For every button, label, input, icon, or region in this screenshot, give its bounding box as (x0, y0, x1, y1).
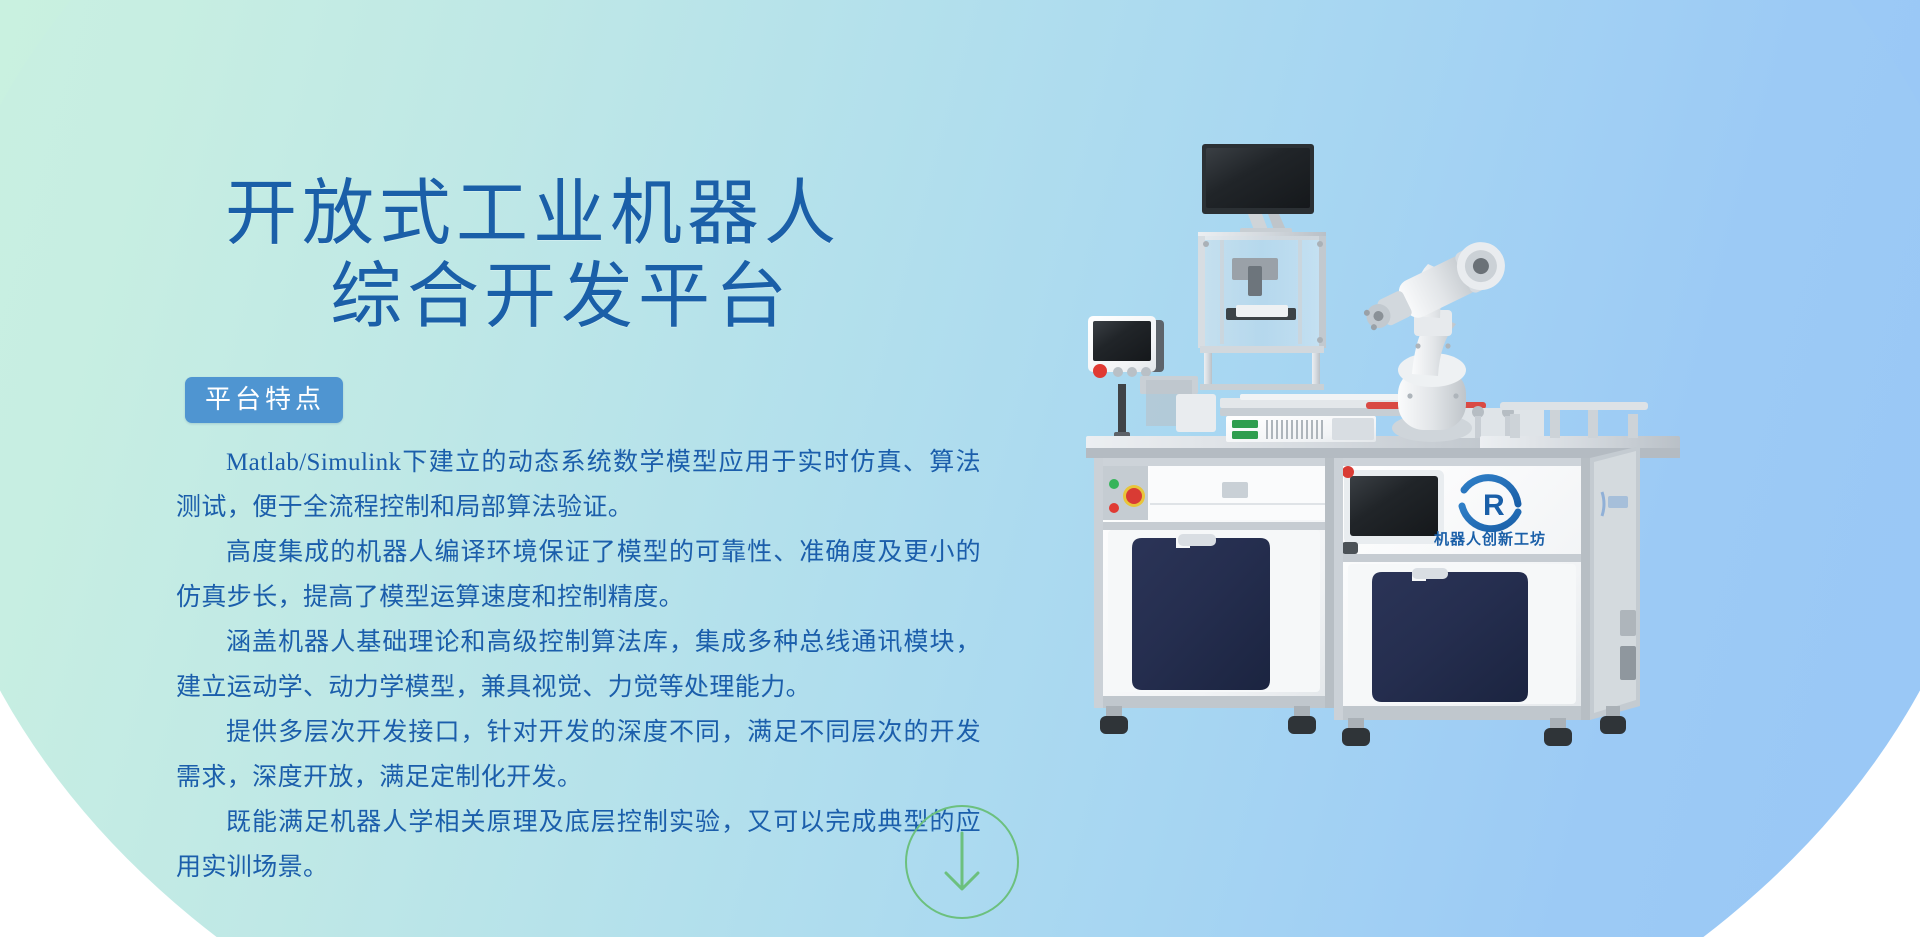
product-illustration: R 机器人创新工坊 (1080, 140, 1700, 780)
cabinet-hmi-screen[interactable] (1342, 466, 1444, 554)
feature-item: 涵盖机器人基础理论和高级控制算法库，集成多种总线通讯模块，建立运动学、动力学模型… (176, 620, 981, 710)
feature-item: 既能满足机器人学相关原理及底层控制实验，又可以完成典型的应用实训场景。 (176, 800, 981, 890)
power-indicator-red (1109, 503, 1119, 513)
feature-item: 提供多层次开发接口，针对开发的深度不同，满足不同层次的开发需求，深度开放，满足定… (176, 710, 981, 800)
page-title-line-2: 综合开发平台 (225, 256, 965, 339)
emergency-stop-button[interactable] (1126, 488, 1142, 504)
status-badge: 平台特点 (185, 377, 343, 423)
enclosure-cell (1198, 232, 1326, 390)
emergency-stop-button[interactable] (1093, 364, 1107, 378)
hero-text-column: 开放式工业机器人 综合开发平台 平台特点 Matlab/Simulink下建立的… (0, 0, 1010, 937)
page-title-line-1: 开放式工业机器人 (225, 173, 965, 256)
power-indicator-green (1109, 479, 1119, 489)
brand-logo-text: 机器人创新工坊 (1434, 530, 1546, 548)
controller-cabinet-left (1094, 458, 1334, 734)
brand-logo-mark: R (1483, 489, 1505, 522)
overhead-monitor (1202, 144, 1314, 235)
scroll-down-button[interactable] (905, 805, 1019, 919)
arrow-down-icon (938, 831, 986, 893)
product-image: R 机器人创新工坊 (1080, 140, 1700, 780)
feature-list: Matlab/Simulink下建立的动态系统数学模型应用于实时仿真、算法测试，… (176, 440, 981, 890)
controller-cabinet-right: R 机器人创新工坊 (1334, 446, 1640, 746)
hero-banner: 开放式工业机器人 综合开发平台 平台特点 Matlab/Simulink下建立的… (0, 0, 1920, 937)
page-title: 开放式工业机器人 综合开发平台 (225, 173, 965, 339)
caster-wheels (1100, 706, 1316, 734)
feature-item: Matlab/Simulink下建立的动态系统数学模型应用于实时仿真、算法测试，… (176, 440, 981, 530)
linear-conveyor-module (1220, 394, 1544, 442)
feature-item: 高度集成的机器人编译环境保证了模型的可靠性、准确度及更小的仿真步长，提高了模型运… (176, 530, 981, 620)
emergency-stop-button[interactable] (1342, 466, 1354, 478)
